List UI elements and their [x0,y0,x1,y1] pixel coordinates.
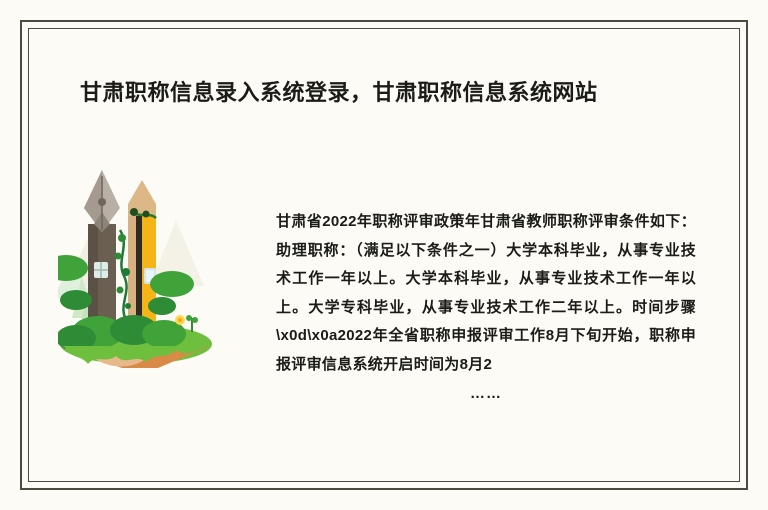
round-tree-icon [150,271,194,297]
floating-island-svg [58,168,258,373]
truncation-marker: …… [276,385,696,402]
vine-leaf-icon [115,253,122,260]
flower-center-icon [178,318,182,322]
vine-leaf-icon [118,234,126,242]
plant-leaf-icon [192,317,198,323]
pen-nib-hole-icon [98,198,106,206]
vine-leaf-icon [117,287,124,294]
article-body: 甘肃省2022年职称评审政策年甘肃省教师职称评审条件如下：助理职称：（满足以下条… [276,208,696,388]
round-tree-icon [60,290,92,310]
plant-leaf-icon [186,315,192,321]
round-tree-icon [148,297,176,315]
vine-leaf-dark-icon [130,208,138,216]
vine-leaf-icon [122,268,130,276]
page-title: 甘肃职称信息录入系统登录，甘肃职称信息系统网站 [80,78,700,108]
floating-island-illustration [58,168,258,373]
article-page: 甘肃职称信息录入系统登录，甘肃职称信息系统网站 [0,0,768,510]
vine-leaf-icon [125,303,131,309]
vine-leaf-dark-icon [143,211,150,218]
